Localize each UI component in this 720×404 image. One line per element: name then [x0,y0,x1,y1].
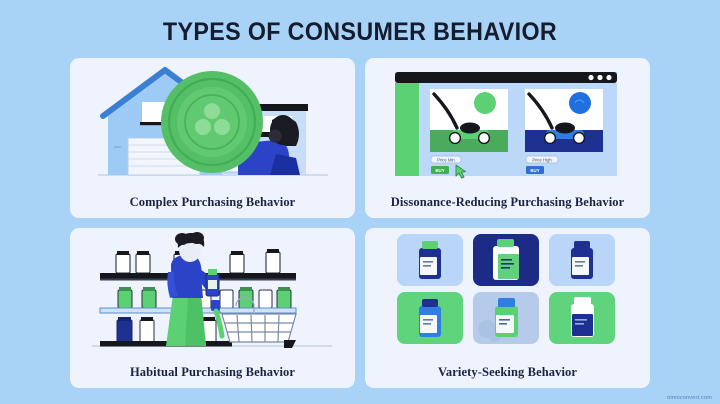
card-caption: Complex Purchasing Behavior [70,195,355,210]
price-label-right: Price High [532,157,552,162]
card-habitual-purchasing[interactable]: Habitual Purchasing Behavior [70,228,355,388]
cards-grid: Complex Purchasing Behavior [70,58,650,388]
card-complex-purchasing[interactable]: Complex Purchasing Behavior [70,58,355,218]
bottle-tile-1 [397,234,463,286]
card-caption: Habitual Purchasing Behavior [70,365,355,380]
mower-left-engine [460,123,480,134]
browser-dot-3 [606,75,611,80]
bottle-tile-3 [549,234,615,286]
illustration-house-coin [70,58,355,184]
illustration-bottle-tiles [365,228,650,354]
watermark: omniconvert.com [667,395,712,401]
infographic-page: TYPES OF CONSUMER BEHAVIOR [0,0,720,404]
browser-titlebar [395,72,617,83]
product-left-sun [474,92,496,114]
coin-dot-top [204,103,220,119]
shelf-bottom-board [100,341,232,347]
bottle-tile-4 [397,292,463,344]
bottle-in-cart [216,311,222,336]
product-right-sun [569,92,591,114]
buy-label-right: BUY [530,168,539,173]
bottle-tile-6 [549,292,615,344]
cart-base [284,340,296,348]
card-caption: Dissonance-Reducing Purchasing Behavior [365,195,650,210]
shelf-middle-bottles [118,287,291,308]
card-dissonance-reducing[interactable]: Price Min BUY [365,58,650,218]
bottle-tile-2 [473,234,539,286]
mower-right-engine [555,123,575,134]
mower-right-wheel-2 [574,133,585,144]
coin-dot-right [214,119,230,135]
page-title: TYPES OF CONSUMER BEHAVIOR [25,18,695,47]
buy-label-left: BUY [435,168,444,173]
mower-left-wheel-2 [479,133,490,144]
mower-right-wheel-1 [545,133,556,144]
card-variety-seeking[interactable]: Variety-Seeking Behavior [365,228,650,388]
price-label-left: Price Min [437,157,455,162]
card-caption: Variety-Seeking Behavior [365,365,650,380]
browser-sidebar [395,83,419,176]
bottle-tiles-svg [365,228,650,354]
illustration-store-shelves [70,228,355,354]
mower-left-wheel-1 [450,133,461,144]
browser-comparison-svg: Price Min BUY [365,58,650,184]
coin-dot-left [195,119,211,135]
store-shelves-svg [70,228,355,354]
bottle-tile-5 [473,292,539,344]
browser-dot-2 [597,75,602,80]
person-face [269,130,282,143]
illustration-browser-comparison: Price Min BUY [365,58,650,184]
coin-inner [177,87,247,157]
house-coin-svg [70,58,355,184]
browser-dot-1 [588,75,593,80]
